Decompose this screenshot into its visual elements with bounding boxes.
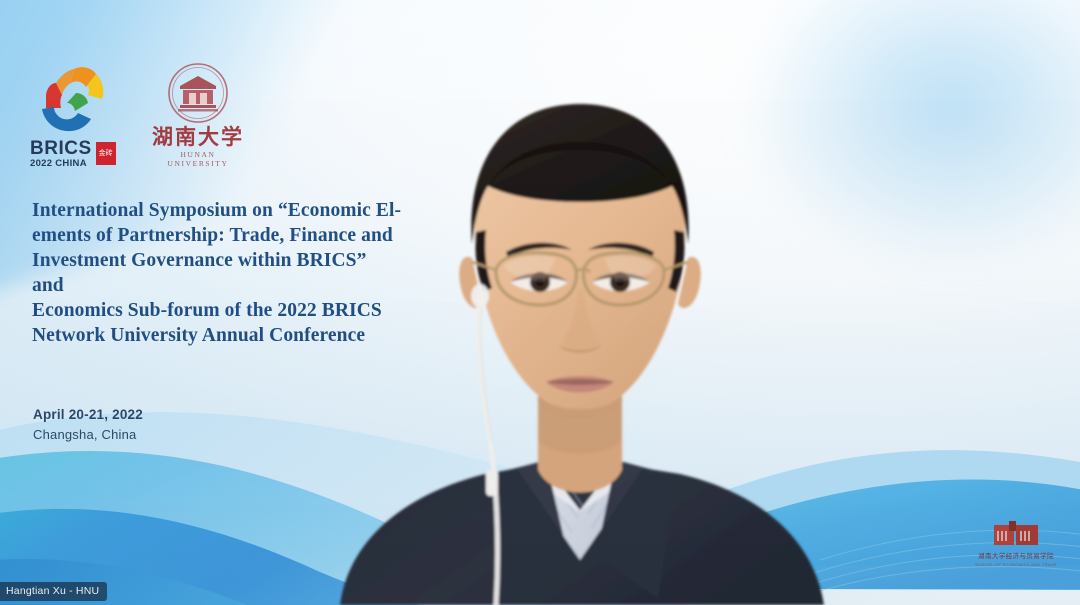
video-conference-frame: BRICS 2022 CHINA 金砖 湖南大学 HUNAN UNIVER	[0, 0, 1080, 605]
participant-name-label: Hangtian Xu - HNU	[0, 582, 107, 601]
sponsor-emblem-icon	[994, 521, 1038, 547]
brics-wordmark: BRICS 2022 CHINA 金砖	[30, 139, 116, 169]
sponsor-chinese-text: 湖南大学经济与贸易学院	[974, 550, 1058, 560]
slide-logo-row: BRICS 2022 CHINA 金砖 湖南大学 HUNAN UNIVER	[30, 62, 246, 168]
hunan-university-english-name: HUNAN UNIVERSITY	[150, 150, 246, 168]
hunan-university-logo: 湖南大学 HUNAN UNIVERSITY	[150, 62, 246, 168]
presenter-video-subject	[300, 0, 860, 605]
brics-seal-icon: 金砖	[96, 142, 116, 165]
sponsor-logo: 湖南大学经济与贸易学院 SCHOOL OF ECONOMICS AND TRAD…	[974, 521, 1058, 567]
brics-emblem-icon	[30, 63, 116, 137]
brics-seal-text: 金砖	[99, 150, 113, 157]
hunan-university-chinese-name: 湖南大学	[150, 127, 246, 148]
brics-2022-china-logo: BRICS 2022 CHINA 金砖	[30, 63, 116, 169]
sponsor-english-text: SCHOOL OF ECONOMICS AND TRADE	[974, 562, 1058, 567]
brics-wordmark-line1: BRICS	[30, 139, 92, 158]
brics-wordmark-line2: 2022 CHINA	[30, 159, 92, 169]
hunan-university-seal-icon	[167, 62, 229, 124]
slide-event-details: April 20-21, 2022 Changsha, China	[33, 407, 143, 442]
event-location: Changsha, China	[33, 427, 143, 442]
event-date: April 20-21, 2022	[33, 407, 143, 422]
